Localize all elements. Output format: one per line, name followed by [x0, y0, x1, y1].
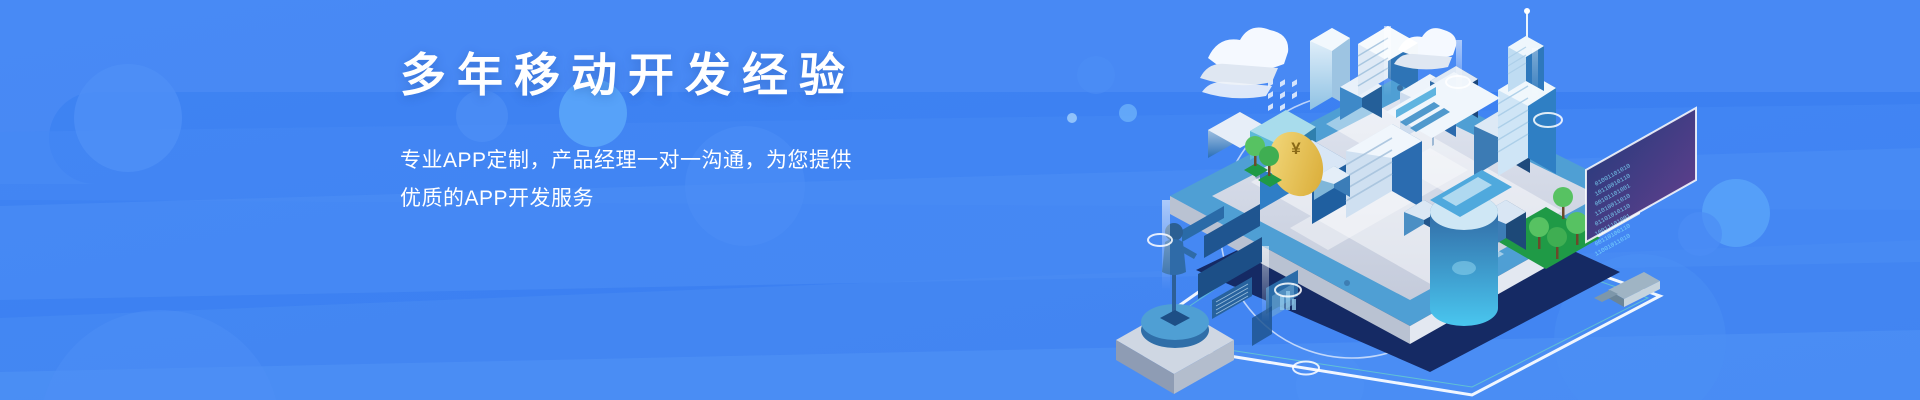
hero-illustration: ¥: [1100, 0, 1720, 400]
cloud: [1200, 28, 1288, 99]
coin-symbol: ¥: [1291, 139, 1301, 158]
subtitle-line-2: 优质的APP开发服务: [400, 180, 1100, 218]
decor-circle-1: [74, 64, 182, 172]
page-title: 多年移动开发经验: [400, 52, 1100, 98]
hero-copy: 多年移动开发经验 专业APP定制，产品经理一对一沟通，为您提供 优质的APP开发…: [400, 52, 1100, 218]
binary-data-panel: 01001101010 10110010110 00101101001 1101…: [1586, 108, 1696, 258]
isometric-city-svg: ¥: [1100, 0, 1720, 400]
hero-banner: 多年移动开发经验 专业APP定制，产品经理一对一沟通，为您提供 优质的APP开发…: [0, 0, 1920, 400]
subtitle-line-1: 专业APP定制，产品经理一对一沟通，为您提供: [400, 142, 1100, 180]
hero-subtitle: 专业APP定制，产品经理一对一沟通，为您提供 优质的APP开发服务: [400, 142, 1100, 218]
skyscraper-tower: [1498, 8, 1556, 176]
cloud-small: [1394, 28, 1456, 69]
